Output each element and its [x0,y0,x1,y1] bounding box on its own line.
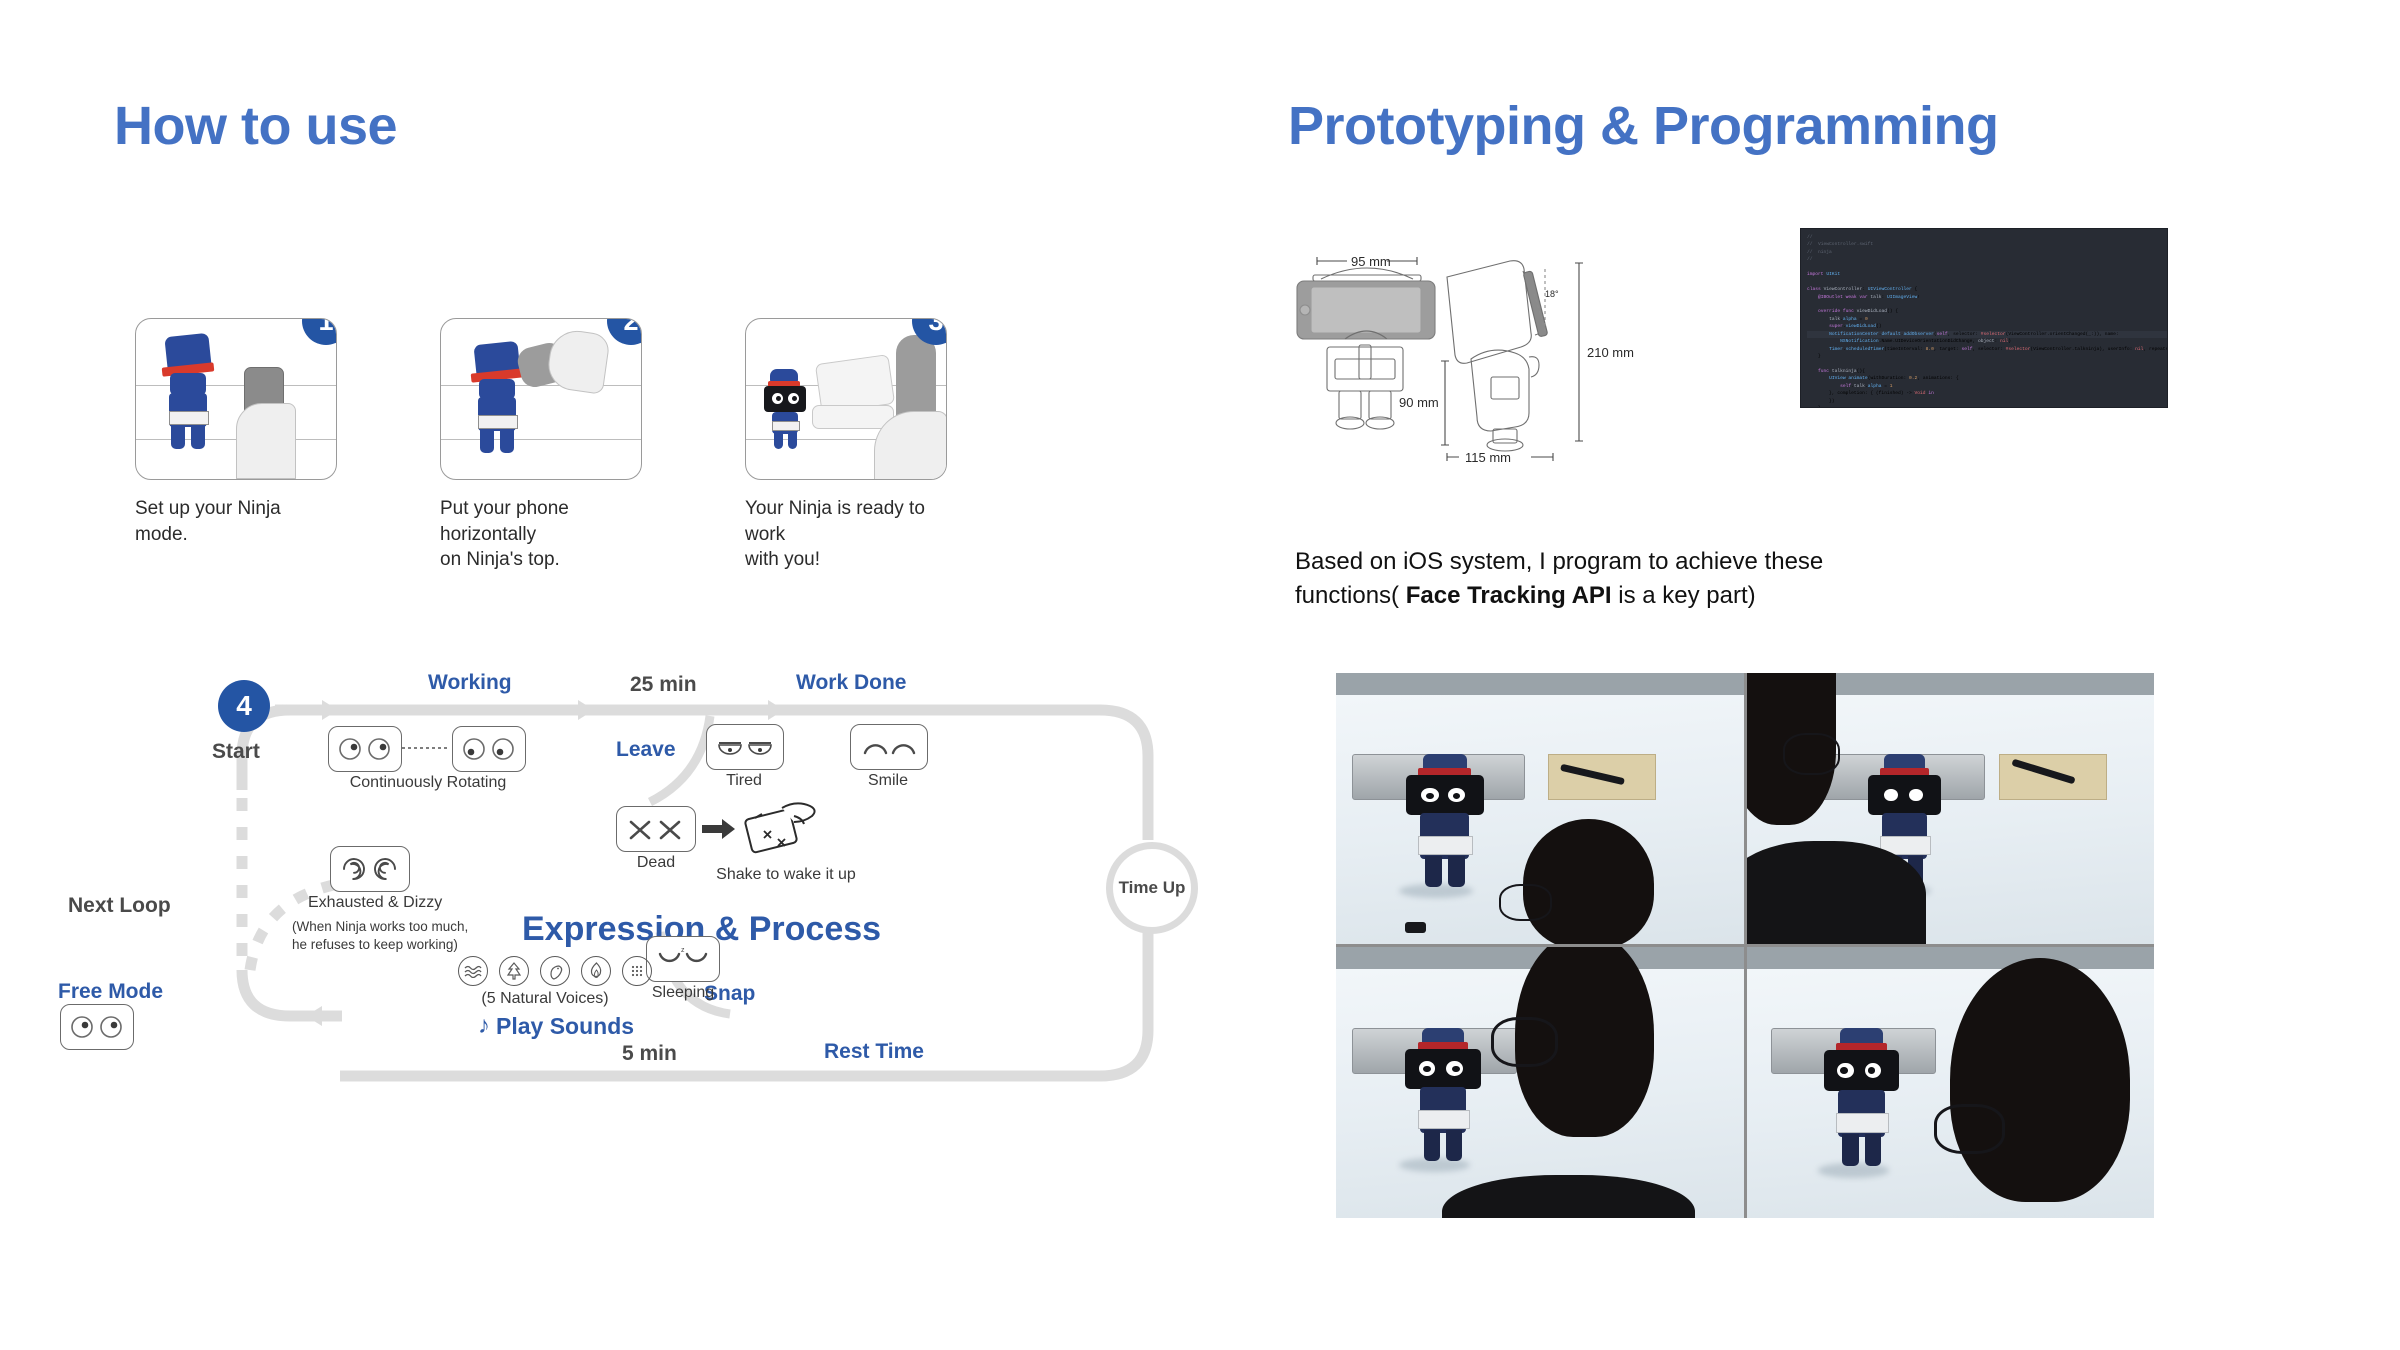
eyes-rotating-icon [337,736,393,762]
play-sounds-label: Play Sounds [496,1013,634,1040]
step-card-2: 2 Put your phone horizontally on Ninja's… [440,318,640,573]
flow-5min-label: 5 min [622,1042,677,1066]
step-2-illustration: 2 [440,318,642,480]
person-illustration [896,335,936,421]
photo-top-left [1336,673,1744,944]
flow-working-label: Working [428,671,512,695]
state-label-sleeping: Sleeping [638,984,728,1002]
flow-start-badge: 4 [218,680,270,732]
waves-icon [458,956,488,986]
flow-start-label: Start [212,740,260,764]
photo-top-right [1747,673,2155,944]
flow-time-up-node: Time Up [1106,842,1198,934]
state-label-rotating: Continuously Rotating [308,774,548,792]
ninja-robot-photo [1397,754,1503,895]
caption-line-2a: functions( [1295,582,1406,609]
eyes-free-mode-icon [69,1014,125,1040]
flow-leave-label: Leave [616,738,676,762]
ninja-robot-illustration [760,369,816,455]
dim-height-total: 210 mm [1587,345,1634,360]
state-label-shake: Shake to wake it up [686,866,886,884]
state-box-rotating-a [328,726,402,772]
svg-text:z: z [681,947,685,954]
process-flow-diagram: 4 Start Next Loop Free Mode Working 25 m… [90,670,1210,1170]
bird-icon [540,956,570,986]
step-3-caption: Your Ninja is ready to work with you! [745,496,945,573]
natural-voices-label: (5 Natural Voices) [450,990,640,1008]
step-1-caption: Set up your Ninja mode. [135,496,335,547]
caption-bold-api: Face Tracking API [1406,582,1612,609]
state-label-tired: Tired [694,772,794,790]
state-box-smile [850,724,928,770]
slide-root: How to use 1 Set up your Ninja mode. [0,0,2400,1350]
state-label-dizzy: Exhausted & Dizzy [308,894,432,912]
step-card-3: 3 Your Ninja is rea [745,318,945,573]
step-badge-1: 1 [302,318,337,345]
rain-icon [622,956,652,986]
dim-depth: 115 mm [1465,450,1511,465]
state-note-dizzy-line2: he refuses to keep working) [292,936,458,954]
photo-bottom-right [1747,947,2155,1218]
dimension-drawing: 95 mm 210 mm 90 mm 115 mm 18° [1295,235,1665,505]
state-note-dizzy-line1: (When Ninja works too much, [292,918,468,936]
hand-illustration [236,403,296,479]
page-title-prototyping: Prototyping & Programming [1288,95,1999,157]
step-badge-2: 2 [607,318,642,345]
rotating-dotted-connector [402,745,450,751]
natural-voice-icons [458,956,652,986]
state-box-tired [706,724,784,770]
programming-caption: Based on iOS system, I program to achiev… [1295,545,1935,613]
flow-free-mode-label: Free Mode [58,980,163,1004]
photo-bottom-left [1336,947,1744,1218]
state-box-dead [616,806,696,852]
flow-time-up-label: Time Up [1119,878,1186,898]
eyes-smile-icon [859,735,919,759]
eyes-dead-icon [625,816,687,842]
step-3-illustration: 3 [745,318,947,480]
step-card-1: 1 Set up your Ninja mode. [135,318,335,547]
state-label-smile: Smile [838,772,938,790]
eyes-rotating-icon [461,736,517,762]
prototype-photo-grid [1336,673,2154,1218]
code-screenshot: // // ViewController.swift // ninja // i… [1800,228,2168,408]
state-box-rotating-b [452,726,526,772]
eyes-tired-icon [715,734,775,760]
page-title-how-to-use: How to use [114,95,397,157]
eyes-dizzy-icon [339,855,401,883]
arrow-right-icon [702,818,736,840]
state-box-dizzy [330,846,410,892]
ninja-robot-photo [1816,1028,1918,1174]
dim-width-top: 95 mm [1351,254,1391,269]
step-1-illustration: 1 [135,318,337,480]
step-2-caption: Put your phone horizontally on Ninja's t… [440,496,640,573]
ninja-robot-photo [1397,1028,1499,1169]
flow-rest-time-label: Rest Time [824,1040,924,1064]
state-box-free-mode [60,1004,134,1050]
flow-next-loop-label: Next Loop [68,894,171,918]
eyes-sleeping-icon: z [654,944,712,974]
state-box-sleeping: z [646,936,720,982]
flow-25min-label: 25 min [630,673,697,697]
flow-work-done-label: Work Done [796,671,906,695]
shake-phone-icon [742,798,820,862]
dim-height-body: 90 mm [1399,395,1439,410]
tree-icon [499,956,529,986]
caption-line-1: Based on iOS system, I program to achiev… [1295,548,1823,575]
flame-icon [581,956,611,986]
play-sounds-row: ♪ Play Sounds [478,1012,634,1040]
ninja-robot-illustration [158,335,228,460]
caption-line-2b: is a key part) [1612,582,1756,609]
dim-angle: 18° [1545,289,1559,299]
music-note-icon: ♪ [478,1012,490,1040]
